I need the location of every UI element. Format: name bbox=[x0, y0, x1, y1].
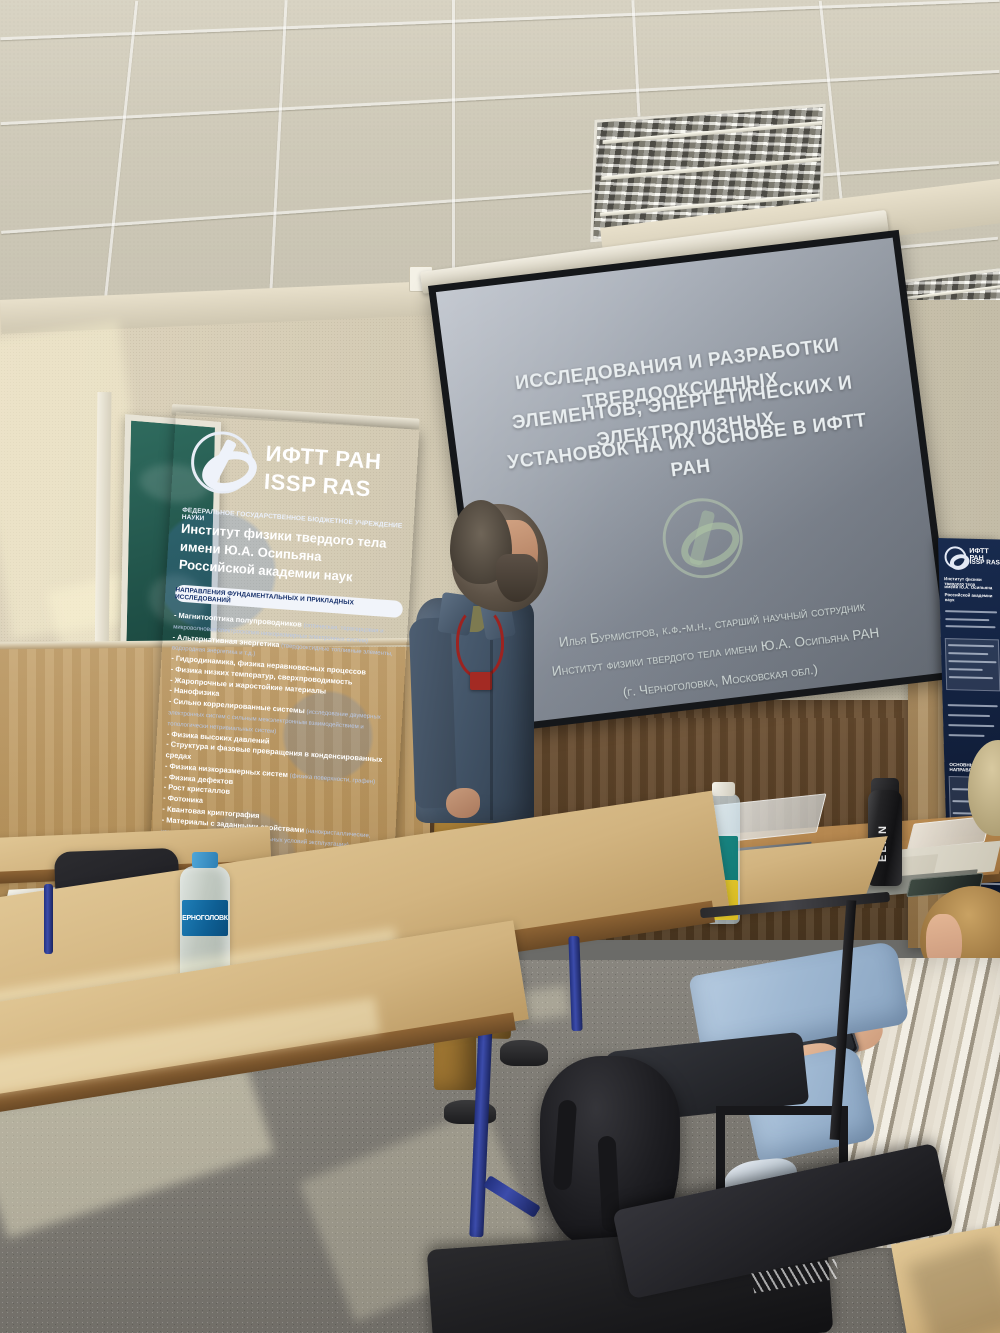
banner-right-institute-line-2: имени Ю.А. Осипьяна bbox=[944, 584, 998, 590]
isp-ras-logo-banner-right bbox=[944, 546, 967, 569]
presenter-badge bbox=[470, 672, 492, 690]
banner-right-acronym-en: ISSP RAS bbox=[970, 559, 1000, 567]
water-bottle-label: ЧЕРНОГОЛОВКА bbox=[182, 900, 228, 936]
iced-tea-bottle-cap[interactable] bbox=[712, 782, 735, 796]
blue-table-leg-3 bbox=[44, 884, 53, 954]
banner-right-institute-line-3: Российской академии наук bbox=[945, 592, 999, 603]
water-bottle-cap[interactable] bbox=[192, 852, 218, 868]
presenter-arm-left bbox=[409, 617, 458, 808]
presenter-lanyard bbox=[456, 606, 504, 678]
water-bottle-brand: ЧЕРНОГОЛОВКА bbox=[182, 900, 228, 936]
banner-topic-list: - Магнитооптика полупроводников (оптичес… bbox=[161, 610, 402, 853]
presenter-shirt-placket bbox=[490, 640, 493, 820]
presenter-hand-left bbox=[446, 788, 480, 818]
photo-scene: Исследования и разработки твердооксидных… bbox=[0, 0, 1000, 1333]
